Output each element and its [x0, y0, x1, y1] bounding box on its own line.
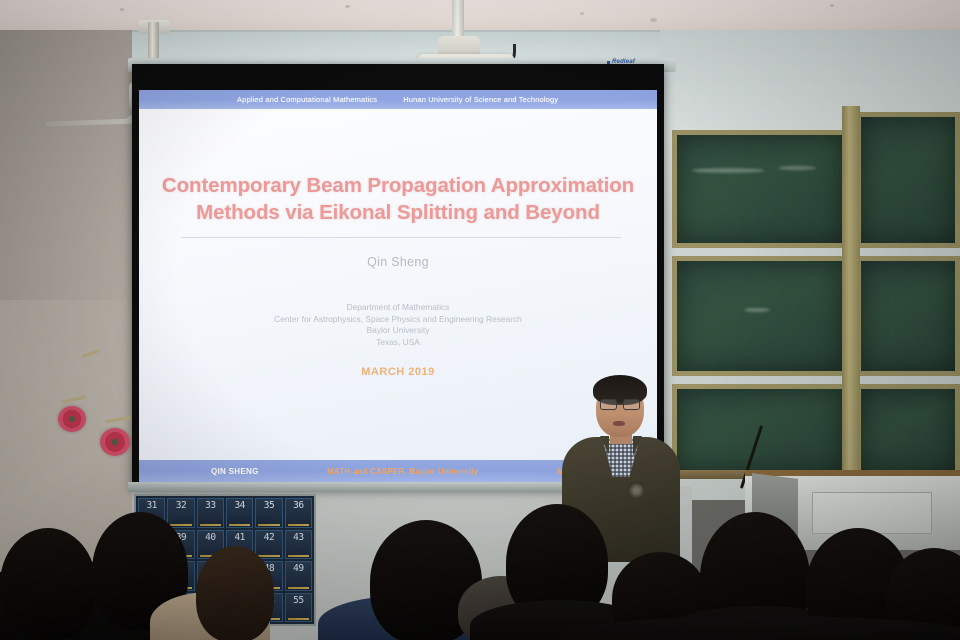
speaker-sweater-logo [629, 482, 644, 499]
blackboard-bottom-right [856, 384, 960, 478]
audience-head [0, 528, 96, 640]
locker-cell[interactable]: 55 [285, 593, 312, 623]
locker-cell[interactable]: 49 [285, 561, 312, 591]
projector-mount-rod [452, 0, 464, 40]
blackboard-lower-left [672, 256, 848, 376]
slide-affiliation: Department of Mathematics Center for Ast… [139, 302, 657, 348]
blackboard-divider [842, 106, 860, 486]
slide-author: Qin Sheng [139, 255, 657, 269]
chalk-smudge [778, 166, 816, 170]
locker-cell[interactable]: 34 [226, 498, 253, 528]
slide-title-line2: Methods via Eikonal Splitting and Beyond [161, 199, 635, 226]
slide-header-left: Applied and Computational Mathematics [237, 95, 377, 104]
slide-header-right: Hunan University of Science and Technolo… [403, 95, 558, 104]
glasses-icon [600, 399, 617, 410]
footer-center: MATH and CASPER, Baylor University [327, 467, 479, 476]
locker-cell[interactable]: 43 [285, 530, 312, 560]
locker-cell[interactable]: 35 [255, 498, 282, 528]
flower-decal-icon [58, 406, 86, 432]
slide-header-bar: Applied and Computational Mathematics Hu… [139, 90, 657, 109]
blackboard-upper-left [672, 130, 848, 248]
ceiling-speck [345, 5, 350, 8]
ceiling-speck [650, 18, 657, 22]
projected-slide: Applied and Computational Mathematics Hu… [139, 90, 657, 482]
affiliation-line: Texas, USA [139, 337, 657, 349]
slide-date: MARCH 2019 [139, 366, 657, 378]
glasses-icon [623, 399, 640, 410]
slide-title-line1: Contemporary Beam Propagation Approximat… [161, 172, 635, 199]
ceiling-speck [120, 8, 124, 11]
affiliation-line: Center for Astrophysics, Space Physics a… [139, 314, 657, 326]
locker-cell[interactable]: 36 [285, 498, 312, 528]
blackboard-lower-right [856, 256, 960, 376]
lecture-hall-scene: Redleaf Applied and Computational Mathem… [0, 0, 960, 640]
chalk-smudge [744, 308, 770, 312]
audience-head [196, 546, 274, 640]
affiliation-line: Baylor University [139, 325, 657, 337]
slide-title: Contemporary Beam Propagation Approximat… [161, 172, 635, 226]
locker-cell[interactable]: 42 [255, 530, 282, 560]
chalk-smudge [692, 168, 764, 173]
locker-cell[interactable]: 32 [167, 498, 194, 528]
footer-left: QIN SHENG [211, 467, 259, 476]
flower-decal-icon [100, 428, 130, 456]
podium-front-panel [812, 492, 932, 534]
ceiling-speck [830, 4, 834, 7]
affiliation-line: Department of Mathematics [139, 302, 657, 314]
ceiling-speck [580, 12, 584, 15]
blackboard-upper-right [856, 112, 960, 248]
glasses-bridge [617, 403, 623, 405]
slide-title-underline [181, 237, 621, 238]
speaker-mouth [613, 421, 625, 426]
locker-cell[interactable]: 33 [197, 498, 224, 528]
